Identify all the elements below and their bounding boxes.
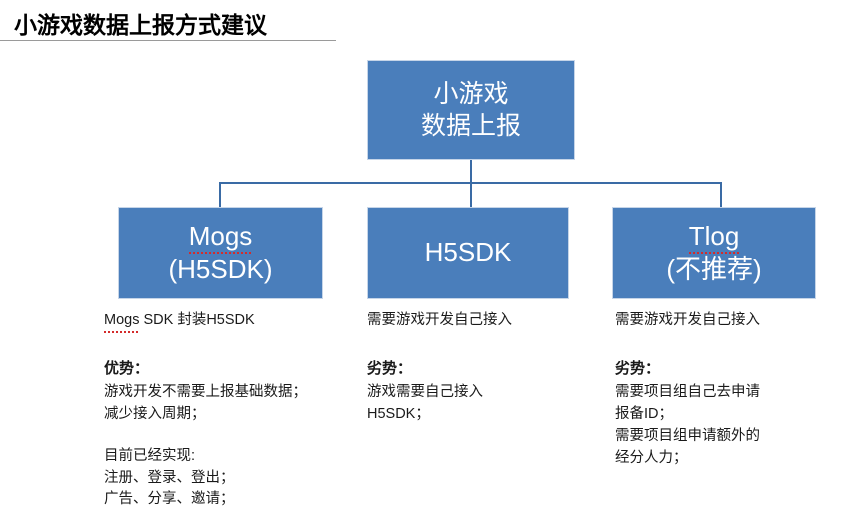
column-h5sdk: 需要游戏开发自己接入 劣势： 游戏需要自己接入 H5SDK； — [367, 310, 602, 426]
page-title: 小游戏数据上报方式建议 — [14, 6, 267, 40]
node-root-line1: 小游戏 — [433, 78, 508, 110]
connector-drop-right — [720, 182, 722, 208]
column-mogs: Mogs SDK 封装H5SDK 优势： 游戏开发不需要上报基础数据； 减少接入… — [104, 310, 344, 511]
title-block: 小游戏数据上报方式建议 — [0, 4, 340, 44]
column-mogs-caption: Mogs SDK 封装H5SDK — [104, 310, 344, 332]
node-root-line2: 数据上报 — [421, 110, 521, 142]
connector-drop-left — [219, 182, 221, 208]
column-mogs-line2-2: 注册、登录、登出； — [104, 468, 344, 490]
node-tlog-line2: (不推荐) — [666, 253, 761, 286]
column-tlog-heading: 劣势： — [615, 358, 850, 381]
column-h5sdk-line-1: 游戏需要自己接入 — [367, 382, 602, 404]
column-mogs-line2-1: 目前已经实现: — [104, 446, 344, 468]
connector-horizontal-bar — [219, 182, 722, 184]
node-h5sdk-line1: H5SDK — [425, 236, 512, 269]
node-tlog[interactable]: Tlog (不推荐) — [612, 207, 816, 299]
title-underline-rule — [0, 40, 336, 41]
column-tlog-line-3: 需要项目组申请额外的 — [615, 426, 850, 448]
column-mogs-line-1: 游戏开发不需要上报基础数据； — [104, 382, 344, 404]
column-mogs-caption-term: Mogs — [104, 310, 139, 332]
column-h5sdk-heading: 劣势： — [367, 358, 602, 381]
column-mogs-line2-3: 广告、分享、邀请； — [104, 489, 344, 511]
column-mogs-caption-rest: SDK 封装H5SDK — [139, 312, 254, 328]
slide-canvas: 小游戏数据上报方式建议 小游戏 数据上报 Mogs (H5SDK) H5SDK … — [0, 0, 865, 525]
node-mogs-line1: Mogs — [189, 220, 253, 253]
node-root-data-reporting[interactable]: 小游戏 数据上报 — [367, 60, 575, 160]
node-h5sdk[interactable]: H5SDK — [367, 207, 569, 299]
column-tlog: 需要游戏开发自己接入 劣势： 需要项目组自己去申请 报备ID； 需要项目组申请额… — [615, 310, 850, 469]
column-mogs-heading: 优势： — [104, 358, 344, 381]
column-tlog-line-1: 需要项目组自己去申请 — [615, 382, 850, 404]
column-tlog-line-2: 报备ID； — [615, 404, 850, 426]
column-mogs-line-2: 减少接入周期； — [104, 404, 344, 426]
column-tlog-line-4: 经分人力； — [615, 448, 850, 470]
node-mogs-line2: (H5SDK) — [168, 253, 272, 286]
node-tlog-line1: Tlog — [689, 220, 740, 253]
column-mogs-spacer — [104, 426, 344, 446]
column-h5sdk-line-2: H5SDK； — [367, 404, 602, 426]
column-h5sdk-caption: 需要游戏开发自己接入 — [367, 310, 602, 332]
column-tlog-caption: 需要游戏开发自己接入 — [615, 310, 850, 332]
connector-root-stem — [470, 160, 472, 208]
node-mogs[interactable]: Mogs (H5SDK) — [118, 207, 323, 299]
